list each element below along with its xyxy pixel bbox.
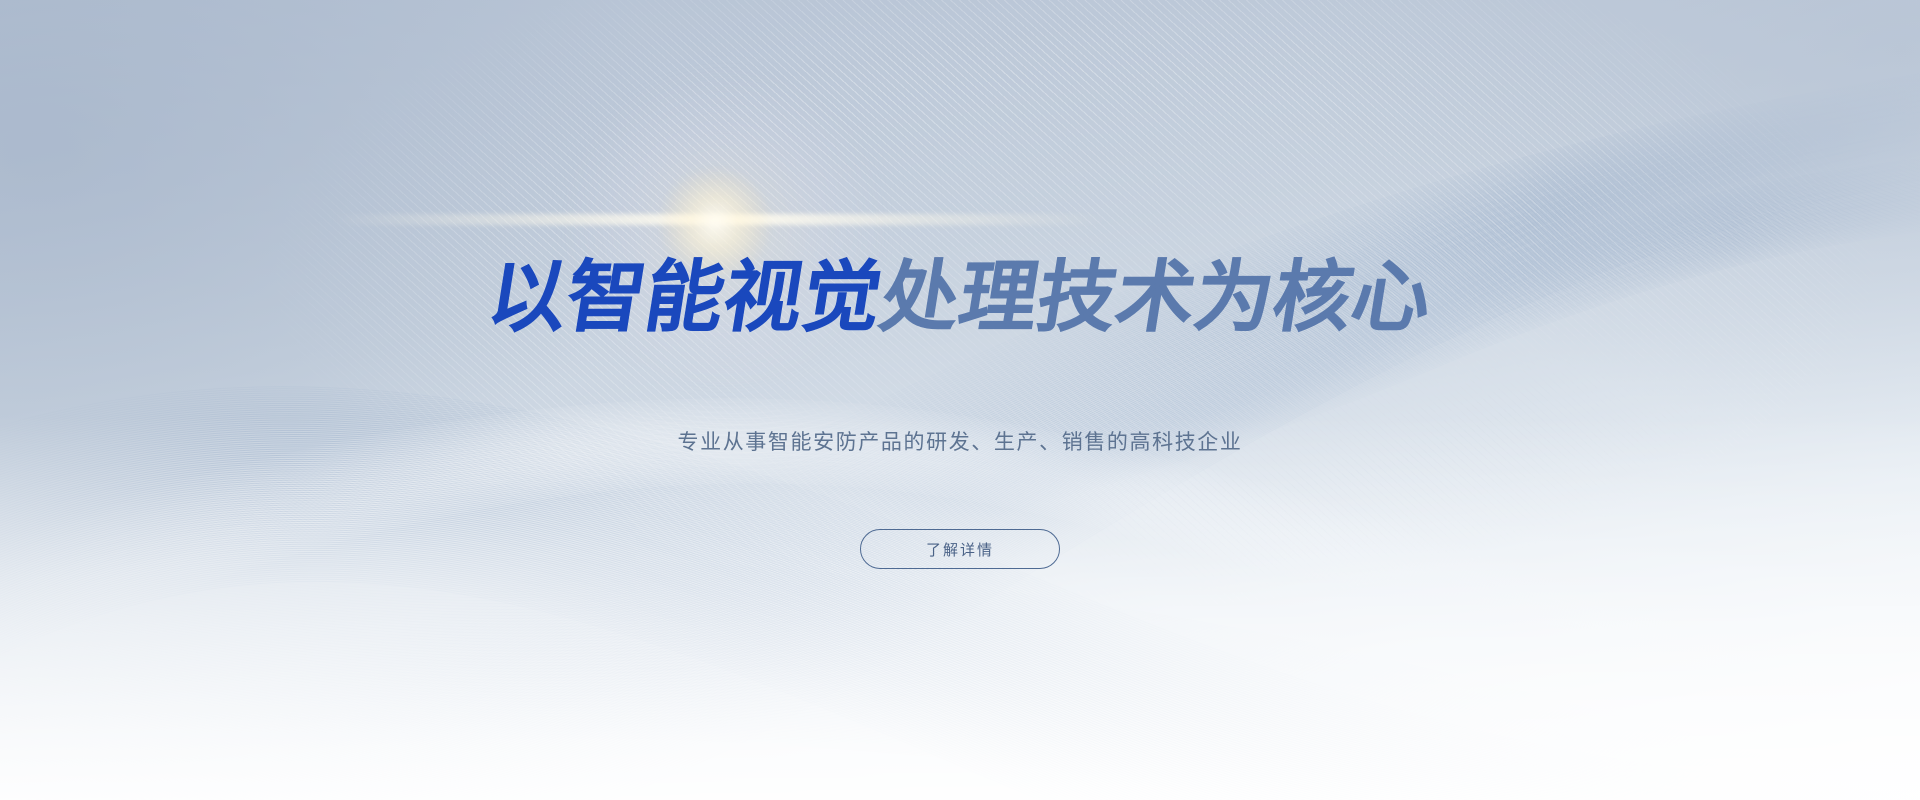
hero-headline: 以智能视觉处理技术为核心 <box>483 258 1437 336</box>
hero-content: 以智能视觉处理技术为核心 专业从事智能安防产品的研发、生产、销售的高科技企业 了… <box>0 0 1920 800</box>
headline-segment-primary: 以智能视觉 <box>483 258 888 336</box>
learn-more-button[interactable]: 了解详情 <box>860 529 1060 569</box>
hero-subtitle: 专业从事智能安防产品的研发、生产、销售的高科技企业 <box>678 432 1243 453</box>
hero-banner: 以智能视觉处理技术为核心 专业从事智能安防产品的研发、生产、销售的高科技企业 了… <box>0 0 1920 800</box>
headline-segment-secondary: 处理技术为核心 <box>875 258 1437 336</box>
